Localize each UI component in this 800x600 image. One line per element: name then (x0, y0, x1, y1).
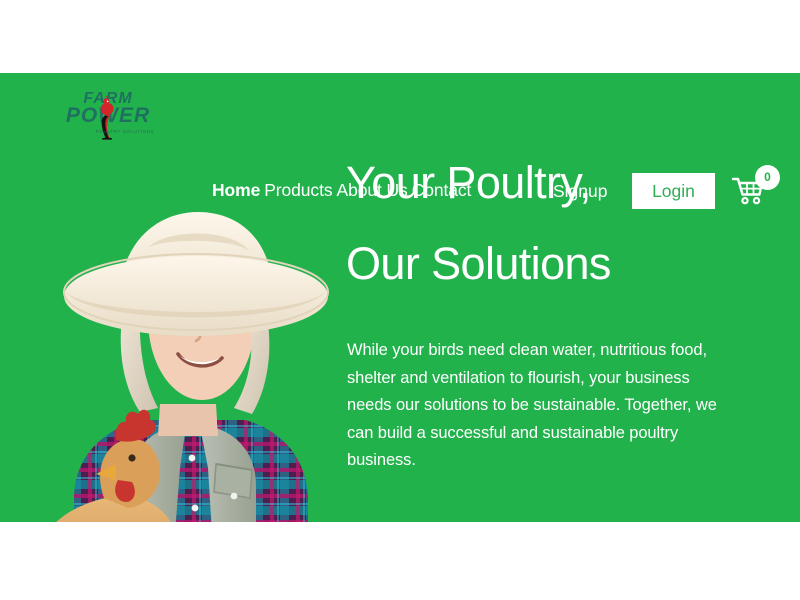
hero-title: Your Poultry, Our Solutions (346, 142, 766, 304)
hero-description: While your birds need clean water, nutri… (347, 337, 725, 475)
hero-title-line-2: Our Solutions (346, 223, 766, 304)
hero-banner: FARM POWER POULTRY SOLUTIONS Home Produc… (0, 73, 800, 522)
site-logo[interactable]: FARM POWER POULTRY SOLUTIONS (56, 89, 160, 143)
hero-title-line-1: Your Poultry, (346, 142, 766, 223)
page-root: FARM POWER POULTRY SOLUTIONS Home Produc… (0, 0, 800, 600)
logo-tagline: POULTRY SOLUTIONS (90, 129, 160, 134)
rooster-icon (92, 95, 122, 141)
hero-photo-farmer-with-chicken (20, 168, 360, 522)
